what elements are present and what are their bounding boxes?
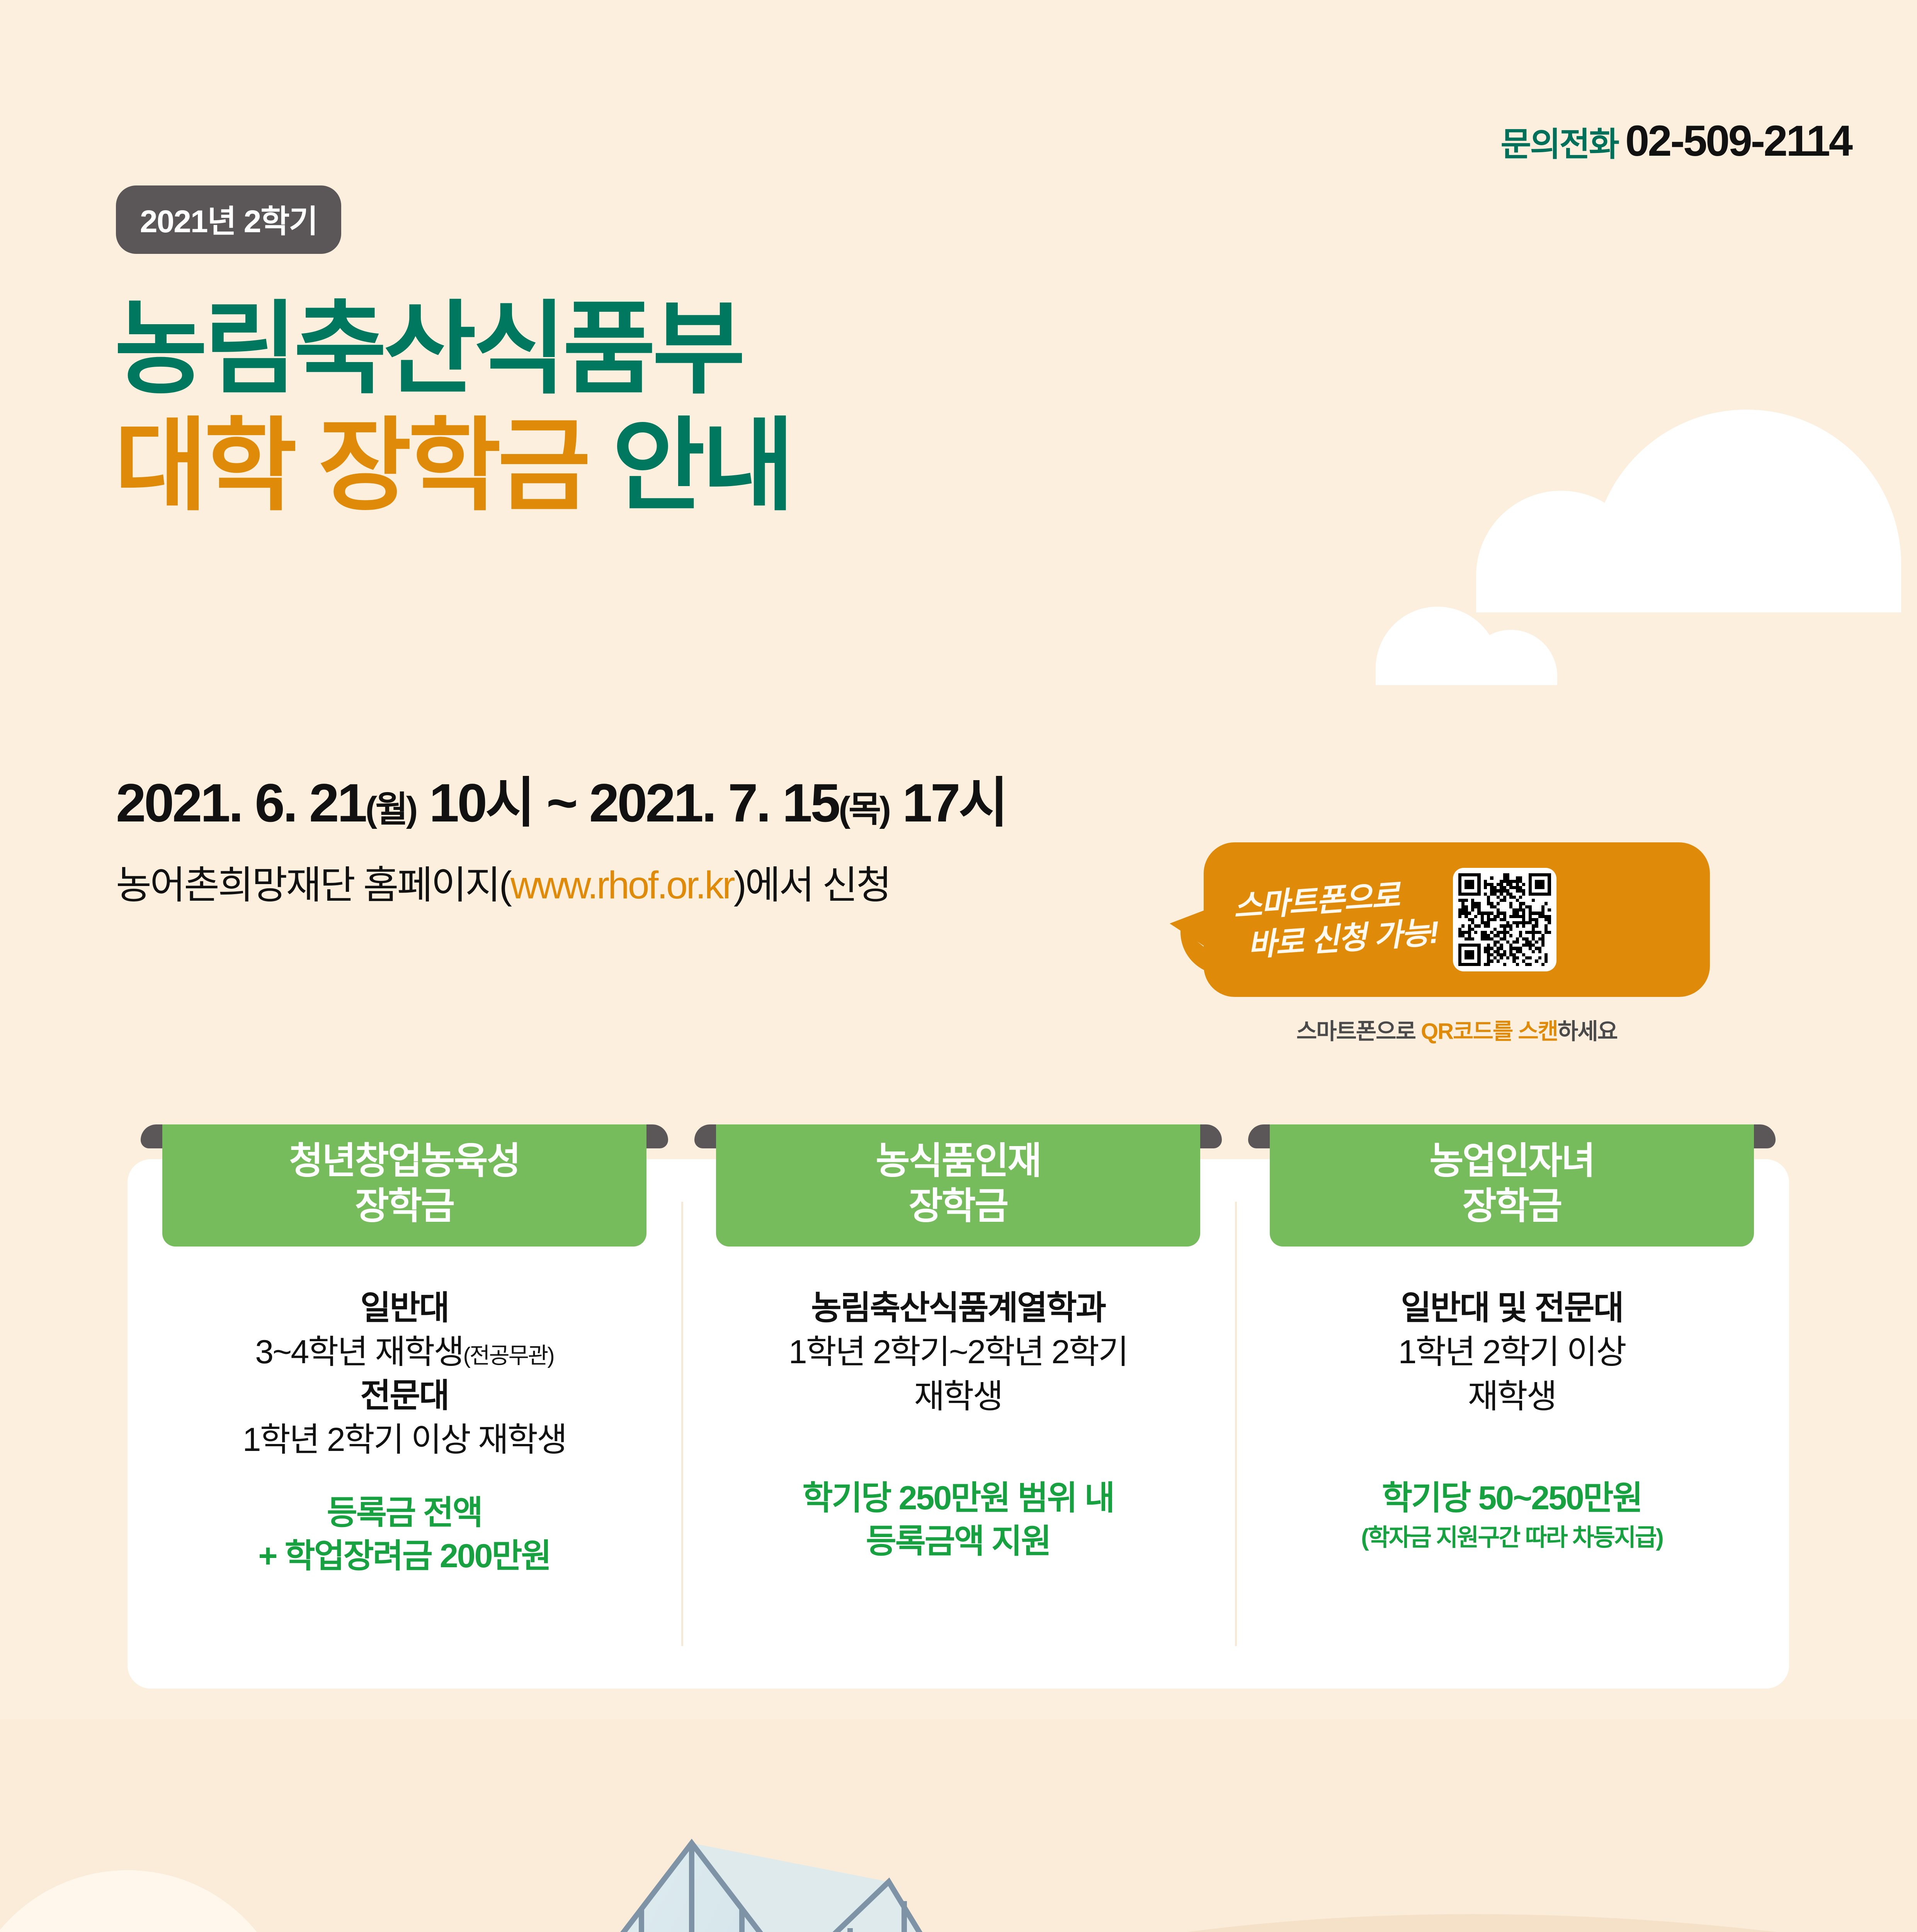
qr-module bbox=[1497, 953, 1500, 956]
qr-module bbox=[1506, 876, 1509, 879]
qr-module bbox=[1477, 918, 1480, 921]
qr-module bbox=[1525, 902, 1528, 905]
card-amount-line-1: 학기당 250만원 범위 내 bbox=[701, 1477, 1215, 1520]
qr-module bbox=[1497, 899, 1500, 902]
qr-module bbox=[1487, 928, 1490, 931]
qr-module bbox=[1509, 896, 1512, 899]
qr-module bbox=[1465, 940, 1468, 944]
qr-module bbox=[1519, 921, 1522, 924]
qr-module bbox=[1477, 873, 1480, 876]
farm-illustration bbox=[0, 1719, 1917, 1932]
qr-module bbox=[1548, 956, 1551, 959]
qr-module bbox=[1548, 950, 1551, 953]
qr-module bbox=[1516, 905, 1519, 908]
qr-module bbox=[1461, 876, 1465, 879]
qr-module bbox=[1538, 918, 1541, 921]
qr-module bbox=[1522, 931, 1525, 934]
qr-module bbox=[1490, 876, 1493, 879]
qr-module bbox=[1458, 873, 1461, 876]
qr-module bbox=[1516, 912, 1519, 915]
qr-module bbox=[1474, 902, 1477, 905]
qr-module bbox=[1506, 883, 1509, 886]
qr-module bbox=[1541, 889, 1544, 892]
qr-module bbox=[1503, 883, 1506, 886]
page-title: 농림축산식품부 대학 장학금 안내 bbox=[114, 294, 791, 522]
qr-section: 스마트폰으로 바로 신청 가능! 스마트폰으로 QR코드를 스캔하세요 bbox=[1204, 842, 1810, 1046]
qr-module bbox=[1503, 915, 1506, 918]
qr-module bbox=[1490, 918, 1493, 921]
qr-module bbox=[1509, 883, 1512, 886]
card-eligibility-note: (전공무관) bbox=[463, 1343, 554, 1368]
qr-module bbox=[1529, 947, 1532, 950]
qr-module bbox=[1484, 873, 1487, 876]
qr-module bbox=[1471, 876, 1474, 879]
qr-module bbox=[1538, 908, 1541, 912]
card-amount: 등록금 전액+ 학업장려금 200만원 bbox=[148, 1492, 661, 1578]
qr-module bbox=[1458, 928, 1461, 931]
qr-module bbox=[1522, 934, 1525, 937]
qr-module bbox=[1465, 963, 1468, 966]
qr-module bbox=[1487, 921, 1490, 924]
qr-module bbox=[1465, 924, 1468, 927]
qr-module bbox=[1512, 899, 1516, 902]
qr-module bbox=[1544, 902, 1548, 905]
qr-module bbox=[1477, 928, 1480, 931]
qr-module bbox=[1548, 908, 1551, 912]
qr-module bbox=[1461, 963, 1465, 966]
qr-module bbox=[1477, 896, 1480, 899]
qr-module bbox=[1500, 889, 1503, 892]
qr-module bbox=[1512, 915, 1516, 918]
qr-module bbox=[1461, 912, 1465, 915]
qr-module bbox=[1461, 928, 1465, 931]
qr-module bbox=[1458, 896, 1461, 899]
qr-module bbox=[1484, 947, 1487, 950]
qr-module bbox=[1493, 880, 1497, 883]
qr-module bbox=[1474, 924, 1477, 927]
qr-module bbox=[1519, 902, 1522, 905]
qr-module bbox=[1461, 905, 1465, 908]
qr-module bbox=[1461, 924, 1465, 927]
qr-module bbox=[1522, 928, 1525, 931]
qr-module bbox=[1529, 944, 1532, 947]
qr-module bbox=[1487, 959, 1490, 963]
qr-module bbox=[1490, 928, 1493, 931]
qr-module bbox=[1535, 880, 1538, 883]
qr-module bbox=[1548, 883, 1551, 886]
qr-module bbox=[1525, 889, 1528, 892]
qr-module bbox=[1465, 889, 1468, 892]
qr-module bbox=[1468, 928, 1471, 931]
qr-module bbox=[1529, 963, 1532, 966]
qr-module bbox=[1490, 896, 1493, 899]
qr-grid bbox=[1458, 873, 1551, 966]
qr-module bbox=[1544, 924, 1548, 927]
qr-module bbox=[1493, 912, 1497, 915]
qr-module bbox=[1487, 876, 1490, 879]
qr-module bbox=[1484, 893, 1487, 896]
qr-module bbox=[1529, 883, 1532, 886]
qr-module bbox=[1548, 947, 1551, 950]
qr-module bbox=[1477, 953, 1480, 956]
qr-module bbox=[1538, 924, 1541, 927]
qr-module bbox=[1541, 963, 1544, 966]
qr-module bbox=[1532, 873, 1535, 876]
qr-module bbox=[1490, 912, 1493, 915]
fold-left-icon bbox=[141, 1124, 162, 1148]
qr-module bbox=[1471, 912, 1474, 915]
qr-module bbox=[1490, 902, 1493, 905]
qr-module bbox=[1465, 896, 1468, 899]
qr-module bbox=[1516, 934, 1519, 937]
qr-module bbox=[1500, 950, 1503, 953]
qr-module bbox=[1474, 950, 1477, 953]
qr-module bbox=[1525, 886, 1528, 889]
qr-module bbox=[1509, 924, 1512, 927]
qr-module bbox=[1468, 940, 1471, 944]
qr-module bbox=[1471, 883, 1474, 886]
qr-module bbox=[1468, 950, 1471, 953]
qr-module bbox=[1477, 931, 1480, 934]
qr-module bbox=[1497, 876, 1500, 879]
qr-module bbox=[1509, 918, 1512, 921]
qr-module bbox=[1474, 893, 1477, 896]
qr-module bbox=[1471, 893, 1474, 896]
qr-module bbox=[1509, 937, 1512, 940]
qr-module bbox=[1487, 947, 1490, 950]
qr-module bbox=[1493, 899, 1497, 902]
qr-module bbox=[1525, 883, 1528, 886]
qr-module bbox=[1474, 889, 1477, 892]
qr-module bbox=[1506, 956, 1509, 959]
qr-module bbox=[1529, 928, 1532, 931]
qr-module bbox=[1471, 886, 1474, 889]
qr-module bbox=[1461, 899, 1465, 902]
qr-module bbox=[1468, 905, 1471, 908]
qr-module bbox=[1500, 953, 1503, 956]
qr-module bbox=[1493, 947, 1497, 950]
qr-module bbox=[1516, 953, 1519, 956]
qr-module bbox=[1548, 886, 1551, 889]
qr-module bbox=[1541, 931, 1544, 934]
qr-module bbox=[1503, 899, 1506, 902]
qr-module bbox=[1544, 886, 1548, 889]
qr-module bbox=[1512, 963, 1516, 966]
card-eligibility-text: 1학년 2학기 이상 bbox=[1255, 1330, 1769, 1374]
qr-module bbox=[1474, 912, 1477, 915]
qr-module bbox=[1481, 905, 1484, 908]
qr-module bbox=[1506, 947, 1509, 950]
qr-module bbox=[1535, 963, 1538, 966]
qr-module bbox=[1493, 921, 1497, 924]
qr-module bbox=[1541, 873, 1544, 876]
qr-module bbox=[1525, 928, 1528, 931]
qr-module bbox=[1477, 905, 1480, 908]
qr-module bbox=[1506, 902, 1509, 905]
qr-module bbox=[1500, 931, 1503, 934]
qr-module bbox=[1490, 908, 1493, 912]
qr-module bbox=[1525, 880, 1528, 883]
qr-module bbox=[1532, 893, 1535, 896]
qr-module bbox=[1458, 899, 1461, 902]
card-eligibility-heading: 전문대 bbox=[148, 1374, 661, 1418]
qr-module bbox=[1506, 905, 1509, 908]
qr-module bbox=[1474, 921, 1477, 924]
qr-module bbox=[1497, 873, 1500, 876]
qr-module bbox=[1529, 915, 1532, 918]
card-title-line-1: 청년창업농육성 bbox=[162, 1138, 646, 1184]
qr-module bbox=[1477, 963, 1480, 966]
qr-module bbox=[1541, 947, 1544, 950]
qr-module bbox=[1535, 908, 1538, 912]
qr-module bbox=[1519, 908, 1522, 912]
qr-module bbox=[1471, 915, 1474, 918]
qr-module bbox=[1458, 950, 1461, 953]
qr-module bbox=[1493, 893, 1497, 896]
qr-module bbox=[1548, 912, 1551, 915]
qr-module bbox=[1541, 908, 1544, 912]
qr-module bbox=[1516, 883, 1519, 886]
qr-module bbox=[1490, 889, 1493, 892]
qr-module bbox=[1512, 873, 1516, 876]
qr-module bbox=[1538, 915, 1541, 918]
qr-module bbox=[1493, 940, 1497, 944]
qr-module bbox=[1468, 947, 1471, 950]
qr-module bbox=[1529, 924, 1532, 927]
qr-module bbox=[1538, 905, 1541, 908]
qr-module bbox=[1548, 931, 1551, 934]
qr-module bbox=[1481, 886, 1484, 889]
qr-module bbox=[1506, 896, 1509, 899]
qr-module bbox=[1458, 921, 1461, 924]
qr-module bbox=[1503, 918, 1506, 921]
qr-module bbox=[1468, 889, 1471, 892]
qr-module bbox=[1493, 950, 1497, 953]
qr-module bbox=[1471, 924, 1474, 927]
qr-module bbox=[1522, 876, 1525, 879]
qr-module bbox=[1548, 963, 1551, 966]
qr-module bbox=[1484, 928, 1487, 931]
qr-module bbox=[1544, 937, 1548, 940]
qr-module bbox=[1516, 947, 1519, 950]
qr-module bbox=[1509, 931, 1512, 934]
qr-module bbox=[1471, 947, 1474, 950]
qr-module bbox=[1493, 896, 1497, 899]
qr-module bbox=[1532, 915, 1535, 918]
qr-module bbox=[1503, 947, 1506, 950]
qr-module bbox=[1490, 953, 1493, 956]
qr-module bbox=[1458, 956, 1461, 959]
qr-module bbox=[1538, 921, 1541, 924]
qr-module bbox=[1503, 944, 1506, 947]
qr-module bbox=[1532, 899, 1535, 902]
qr-module bbox=[1465, 905, 1468, 908]
qr-module bbox=[1509, 905, 1512, 908]
qr-module bbox=[1516, 963, 1519, 966]
qr-module bbox=[1532, 937, 1535, 940]
qr-module bbox=[1544, 899, 1548, 902]
qr-module bbox=[1487, 924, 1490, 927]
qr-module bbox=[1497, 937, 1500, 940]
title-guide-word: 안내 bbox=[612, 409, 791, 522]
qr-module bbox=[1493, 918, 1497, 921]
qr-module bbox=[1503, 934, 1506, 937]
qr-module bbox=[1477, 886, 1480, 889]
qr-module bbox=[1538, 947, 1541, 950]
qr-module bbox=[1461, 873, 1465, 876]
qr-module bbox=[1500, 921, 1503, 924]
qr-module bbox=[1532, 876, 1535, 879]
qr-module bbox=[1458, 953, 1461, 956]
qr-module bbox=[1458, 940, 1461, 944]
qr-module bbox=[1519, 944, 1522, 947]
bubble-tail-icon bbox=[1170, 907, 1212, 951]
qr-module bbox=[1481, 880, 1484, 883]
qr-module bbox=[1500, 956, 1503, 959]
qr-module bbox=[1544, 912, 1548, 915]
qr-module bbox=[1484, 959, 1487, 963]
qr-module bbox=[1529, 896, 1532, 899]
qr-module bbox=[1493, 924, 1497, 927]
qr-module bbox=[1465, 918, 1468, 921]
qr-module bbox=[1544, 921, 1548, 924]
qr-module bbox=[1503, 924, 1506, 927]
qr-module bbox=[1490, 944, 1493, 947]
card-spacer bbox=[1255, 1419, 1769, 1447]
qr-module bbox=[1481, 956, 1484, 959]
qr-module bbox=[1541, 956, 1544, 959]
qr-module bbox=[1522, 953, 1525, 956]
qr-module bbox=[1538, 959, 1541, 963]
qr-module bbox=[1522, 912, 1525, 915]
qr-module bbox=[1512, 902, 1516, 905]
qr-module bbox=[1484, 876, 1487, 879]
qr-module bbox=[1509, 940, 1512, 944]
qr-module bbox=[1487, 889, 1490, 892]
qr-module bbox=[1461, 956, 1465, 959]
qr-module bbox=[1497, 896, 1500, 899]
qr-module bbox=[1532, 959, 1535, 963]
qr-module bbox=[1465, 893, 1468, 896]
qr-module bbox=[1461, 908, 1465, 912]
qr-module bbox=[1474, 896, 1477, 899]
qr-module bbox=[1487, 899, 1490, 902]
qr-module bbox=[1465, 921, 1468, 924]
qr-module bbox=[1471, 918, 1474, 921]
qr-code[interactable] bbox=[1453, 868, 1556, 971]
qr-module bbox=[1538, 928, 1541, 931]
qr-module bbox=[1474, 931, 1477, 934]
qr-module bbox=[1465, 950, 1468, 953]
qr-module bbox=[1516, 924, 1519, 927]
qr-module bbox=[1465, 883, 1468, 886]
qr-module bbox=[1490, 934, 1493, 937]
qr-module bbox=[1468, 953, 1471, 956]
qr-module bbox=[1541, 896, 1544, 899]
qr-module bbox=[1532, 944, 1535, 947]
qr-module bbox=[1509, 902, 1512, 905]
qr-module bbox=[1544, 893, 1548, 896]
qr-module bbox=[1541, 893, 1544, 896]
qr-module bbox=[1522, 899, 1525, 902]
qr-module bbox=[1538, 880, 1541, 883]
qr-module bbox=[1548, 924, 1551, 927]
qr-module bbox=[1516, 931, 1519, 934]
qr-module bbox=[1532, 940, 1535, 944]
qr-module bbox=[1468, 883, 1471, 886]
semester-badge: 2021년 2학기 bbox=[116, 185, 341, 254]
qr-module bbox=[1471, 956, 1474, 959]
qr-module bbox=[1474, 959, 1477, 963]
qr-module bbox=[1500, 944, 1503, 947]
qr-module bbox=[1538, 937, 1541, 940]
fold-right-icon bbox=[646, 1124, 668, 1148]
qr-module bbox=[1522, 883, 1525, 886]
card-eligibility-heading: 일반대 bbox=[148, 1287, 661, 1330]
qr-module bbox=[1506, 873, 1509, 876]
qr-module bbox=[1529, 908, 1532, 912]
qr-module bbox=[1468, 908, 1471, 912]
qr-module bbox=[1512, 953, 1516, 956]
qr-module bbox=[1544, 896, 1548, 899]
apply-url[interactable]: www.rhof.or.kr bbox=[510, 864, 734, 907]
qr-module bbox=[1516, 956, 1519, 959]
card-amount-line-2: 등록금액 지원 bbox=[701, 1520, 1215, 1563]
qr-module bbox=[1477, 956, 1480, 959]
qr-module bbox=[1548, 902, 1551, 905]
qr-module bbox=[1529, 956, 1532, 959]
qr-module bbox=[1503, 931, 1506, 934]
qr-module bbox=[1468, 915, 1471, 918]
qr-module bbox=[1493, 886, 1497, 889]
qr-module bbox=[1497, 915, 1500, 918]
qr-module bbox=[1503, 912, 1506, 915]
qr-module bbox=[1529, 940, 1532, 944]
qr-module bbox=[1522, 944, 1525, 947]
qr-module bbox=[1500, 896, 1503, 899]
qr-module bbox=[1474, 880, 1477, 883]
qr-module bbox=[1529, 934, 1532, 937]
qr-module bbox=[1474, 937, 1477, 940]
qr-module bbox=[1503, 876, 1506, 879]
qr-module bbox=[1481, 947, 1484, 950]
qr-module bbox=[1535, 876, 1538, 879]
qr-module bbox=[1461, 902, 1465, 905]
qr-module bbox=[1477, 934, 1480, 937]
qr-module bbox=[1535, 889, 1538, 892]
qr-module bbox=[1484, 921, 1487, 924]
qr-module bbox=[1474, 905, 1477, 908]
qr-module bbox=[1481, 928, 1484, 931]
qr-module bbox=[1509, 889, 1512, 892]
qr-module bbox=[1481, 944, 1484, 947]
qr-module bbox=[1461, 944, 1465, 947]
card-eligibility-text: 1학년 2학기~2학년 2학기 bbox=[701, 1330, 1215, 1374]
qr-module bbox=[1522, 889, 1525, 892]
qr-module bbox=[1519, 953, 1522, 956]
qr-module bbox=[1497, 908, 1500, 912]
qr-module bbox=[1481, 899, 1484, 902]
qr-module bbox=[1465, 876, 1468, 879]
card-amount: 학기당 50~250만원(학자금 지원구간 따라 차등지급) bbox=[1255, 1477, 1769, 1553]
qr-module bbox=[1484, 944, 1487, 947]
qr-module bbox=[1471, 902, 1474, 905]
qr-module bbox=[1541, 876, 1544, 879]
qr-module bbox=[1490, 959, 1493, 963]
qr-module bbox=[1544, 959, 1548, 963]
qr-module bbox=[1490, 924, 1493, 927]
qr-module bbox=[1484, 883, 1487, 886]
